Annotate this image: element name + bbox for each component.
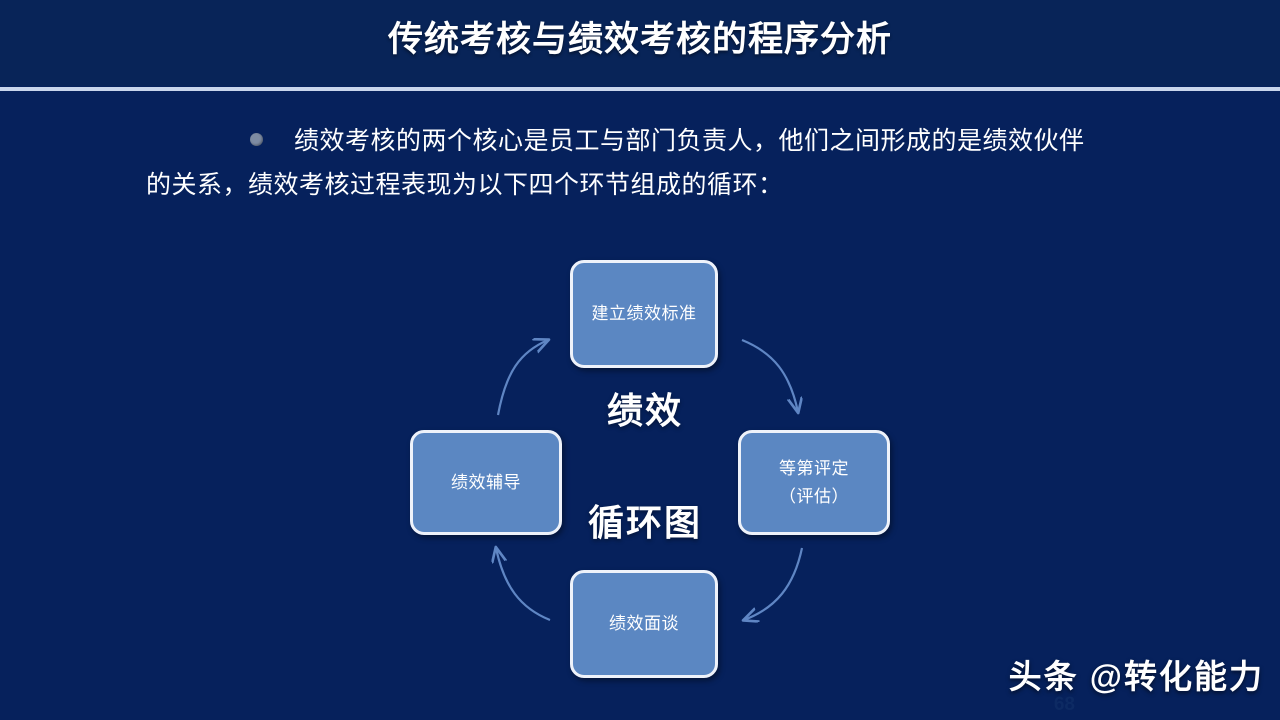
- cycle-node-performance-interview[interactable]: 绩效面谈: [570, 570, 718, 678]
- bullet-point-icon: [250, 133, 263, 146]
- arrow-left-to-top: [498, 340, 548, 415]
- performance-cycle-diagram: 建立绩效标准 等第评定 （评估） 绩效面谈 绩效辅导 绩效 循环图: [380, 240, 920, 690]
- cycle-node-performance-coaching[interactable]: 绩效辅导: [410, 430, 562, 535]
- rating-line-2: （评估）: [779, 487, 849, 506]
- cycle-node-rating-evaluation-text: 等第评定 （评估）: [779, 455, 849, 511]
- header-divider: [0, 87, 1280, 91]
- rating-line-1: 等第评定: [779, 459, 849, 478]
- body-block: 绩效考核的两个核心是员工与部门负责人，他们之间形成的是绩效伙伴的关系，绩效考核过…: [146, 119, 1086, 207]
- slide-canvas: 传统考核与绩效考核的程序分析 绩效考核的两个核心是员工与部门负责人，他们之间形成…: [0, 0, 1280, 720]
- body-paragraph: 绩效考核的两个核心是员工与部门负责人，他们之间形成的是绩效伙伴的关系，绩效考核过…: [146, 119, 1086, 207]
- cycle-node-establish-standards[interactable]: 建立绩效标准: [570, 260, 718, 368]
- cycle-node-rating-evaluation[interactable]: 等第评定 （评估）: [738, 430, 890, 535]
- arrow-bottom-to-left: [496, 548, 550, 620]
- page-title: 传统考核与绩效考核的程序分析: [0, 12, 1280, 68]
- arrow-top-to-right: [742, 340, 798, 412]
- watermark: 头条 @转化能力: [1009, 650, 1264, 698]
- arrow-right-to-bottom: [744, 548, 802, 620]
